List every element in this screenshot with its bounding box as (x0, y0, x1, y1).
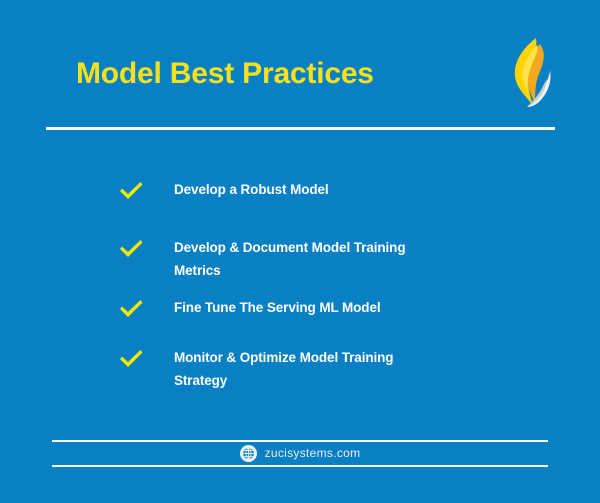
website-url[interactable]: zucisystems.com (265, 446, 361, 460)
list-item-label: Monitor & Optimize Model Training Strate… (174, 346, 444, 392)
list-item: Fine Tune The Serving ML Model (118, 296, 538, 320)
check-icon (118, 180, 144, 202)
check-icon (118, 238, 144, 260)
zuci-flame-logo-icon (506, 36, 560, 108)
list-item: Monitor & Optimize Model Training Strate… (118, 346, 538, 392)
list-item: Develop & Document Model Training Metric… (118, 236, 538, 282)
slide-canvas: Model Best Practices Deve (0, 0, 600, 503)
list-item-label: Develop & Document Model Training Metric… (174, 236, 444, 282)
page-title: Model Best Practices (76, 54, 374, 94)
check-icon (118, 298, 144, 320)
check-icon (118, 348, 144, 370)
footer-content: zucisystems.com (0, 442, 600, 464)
list-item-label: Fine Tune The Serving ML Model (174, 296, 444, 319)
title-divider (46, 127, 555, 130)
globe-icon (240, 445, 257, 462)
footer-divider-bottom (52, 465, 548, 467)
slide-footer: zucisystems.com (0, 438, 600, 470)
list-item: Develop a Robust Model (118, 178, 538, 202)
list-item-label: Develop a Robust Model (174, 178, 444, 201)
slide-header: Model Best Practices (0, 0, 600, 128)
